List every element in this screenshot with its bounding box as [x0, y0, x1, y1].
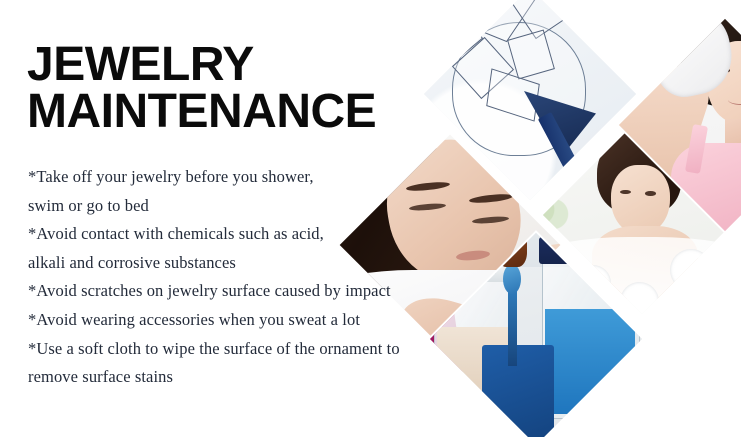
- soap-bubble-icon: [620, 282, 659, 314]
- tip-item: *Avoid wearing accessories when you swea…: [28, 306, 448, 335]
- bath-woman-eye: [645, 191, 656, 195]
- tip-item: *Avoid scratches on jewelry surface caus…: [28, 277, 448, 306]
- text-column: JEWELRY MAINTENANCE *Take off your jewel…: [0, 0, 450, 437]
- tip-item: *Use a soft cloth to wipe the surface of…: [28, 335, 448, 392]
- soap-bubble-icon: [670, 249, 712, 291]
- page-title: JEWELRY MAINTENANCE: [27, 41, 427, 135]
- dark-blue-flask: [482, 345, 554, 437]
- jewelry-maintenance-banner: JEWELRY MAINTENANCE *Take off your jewel…: [0, 0, 741, 437]
- soap-bubble-icon: [709, 277, 741, 311]
- tip-item: *Take off your jewelry before you shower…: [28, 163, 448, 220]
- bathroom-plant: [543, 187, 569, 232]
- blue-reagent-liquid: [545, 309, 635, 414]
- dropper-neck: [503, 264, 521, 294]
- tip-item: *Avoid contact with chemicals such as ac…: [28, 220, 448, 277]
- dropper-tube: [508, 288, 517, 366]
- maintenance-tips-list: *Take off your jewelry before you shower…: [28, 163, 448, 392]
- bath-woman-face: [611, 165, 670, 235]
